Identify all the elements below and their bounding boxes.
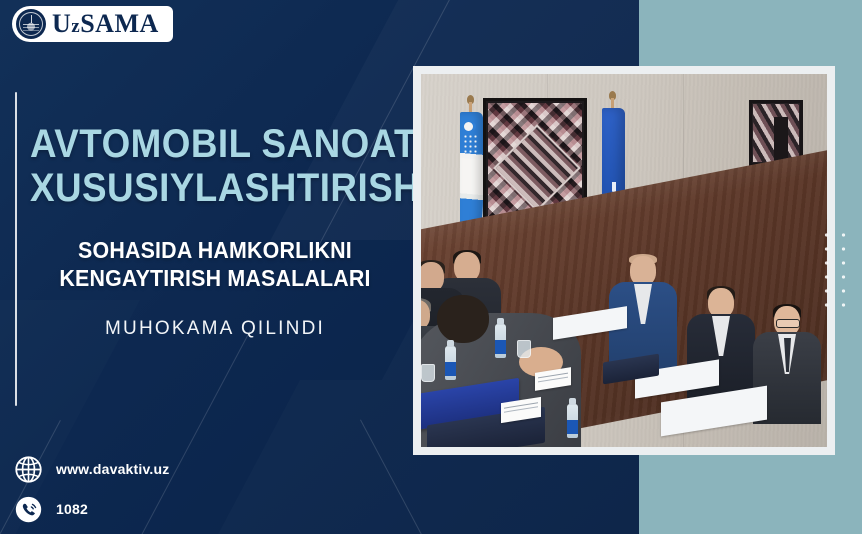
contact-row-website[interactable]: www.davaktiv.uz xyxy=(14,452,169,486)
kicker-text: MUHOKAMA QILINDI xyxy=(30,318,400,340)
water-bottle xyxy=(495,324,506,358)
headline-block: AVTOMOBIL SANOATI VA XUSUSIYLASHTIRISH S… xyxy=(30,122,410,340)
website-label: www.davaktiv.uz xyxy=(56,461,169,477)
subtitle-line-1: SOHASIDA HAMKORLIKNI xyxy=(43,236,387,264)
title-line-1: AVTOMOBIL SANOATI VA xyxy=(30,122,380,166)
left-accent-rule xyxy=(15,92,17,406)
state-emblem-icon xyxy=(16,9,46,39)
phone-icon xyxy=(14,495,43,524)
drinking-glass xyxy=(517,340,531,358)
dot-grid-decoration xyxy=(818,228,852,310)
meeting-photo: 2030 xyxy=(421,74,827,447)
water-bottle xyxy=(567,404,578,438)
photo-frame: 2030 xyxy=(413,66,835,455)
subtitle-block: SOHASIDA HAMKORLIKNI KENGAYTIRISH MASALA… xyxy=(30,236,400,292)
brand-logo-text: UzSAMA xyxy=(52,11,159,37)
water-bottle xyxy=(445,346,456,380)
banner-canvas: UzSAMA AVTOMOBIL SANOATI VA XUSUSIYLASHT… xyxy=(0,0,862,534)
brand-logo[interactable]: UzSAMA xyxy=(12,6,173,42)
subtitle-line-2: KENGAYTIRISH MASALALARI xyxy=(43,264,387,292)
drinking-glass xyxy=(421,364,435,382)
contact-row-phone[interactable]: 1082 xyxy=(14,492,169,526)
contact-block: www.davaktiv.uz 1082 xyxy=(14,452,169,532)
title-line-2: XUSUSIYLASHTIRISH xyxy=(30,166,380,210)
phone-label: 1082 xyxy=(56,501,88,517)
globe-icon xyxy=(14,455,43,484)
